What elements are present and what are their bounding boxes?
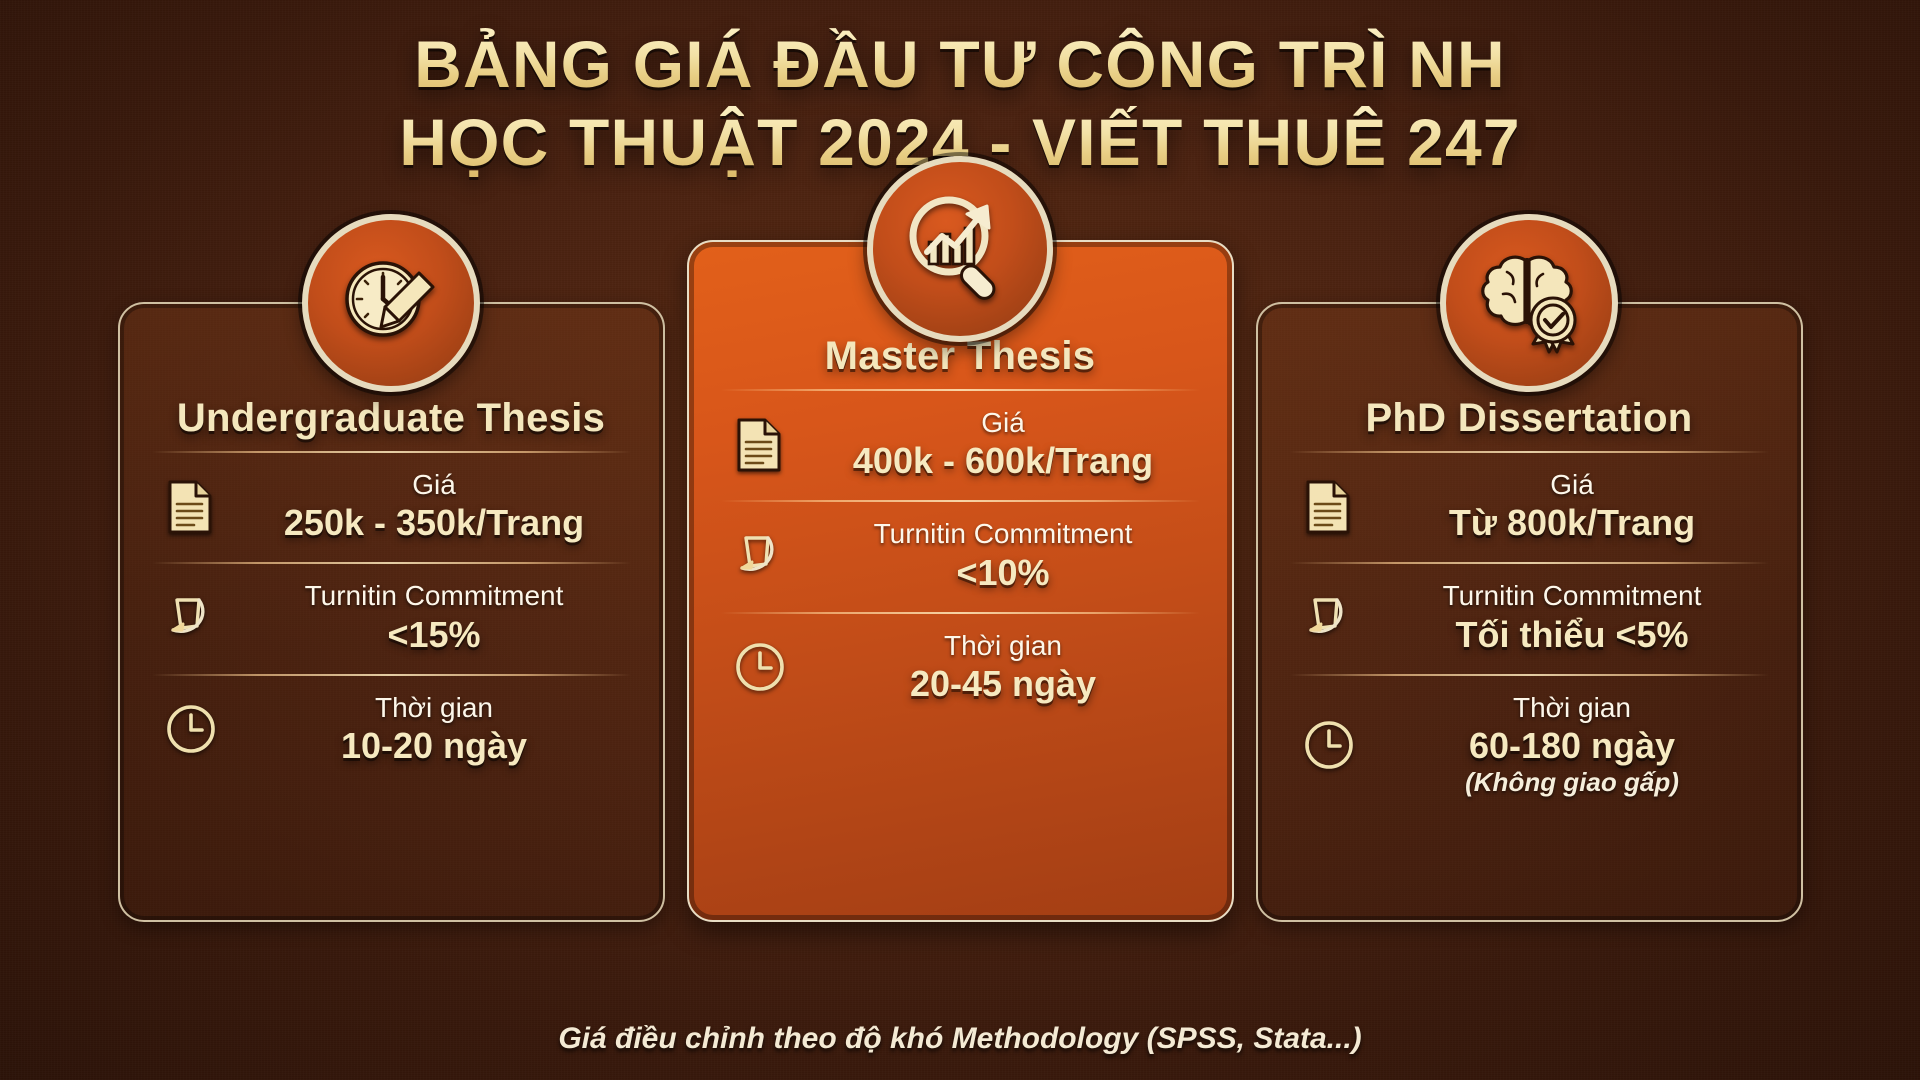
row-price: Giá 250k - 350k/Trang (146, 463, 637, 552)
plagiarism-check-icon (160, 587, 222, 649)
row-label: Turnitin Commitment (240, 580, 629, 612)
pricing-card-master[interactable]: Master Thesis Giá 400k - 600k/Trang (687, 240, 1234, 922)
row-label: Thời gian (1378, 692, 1767, 724)
title-line-1: BẢNG GIÁ ĐẦU TƯ CÔNG TRÌ NH (0, 26, 1920, 104)
row-value: <15% (240, 613, 629, 656)
row-time: Thời gian 20-45 ngày (715, 624, 1206, 713)
card-title: Undergraduate Thesis (146, 396, 637, 441)
row-value: 20-45 ngày (809, 662, 1198, 705)
row-time: Thời gian 60-180 ngày (Không giao gấp) (1284, 686, 1775, 807)
divider (152, 562, 631, 564)
row-turnitin: Turnitin Commitment <15% (146, 574, 637, 663)
plagiarism-check-icon (1298, 587, 1360, 649)
divider (1290, 451, 1769, 453)
divider (1290, 674, 1769, 676)
clock-pencil-icon (302, 214, 480, 392)
divider (721, 500, 1200, 502)
row-label: Turnitin Commitment (1378, 580, 1767, 612)
row-label: Thời gian (240, 692, 629, 724)
row-turnitin: Turnitin Commitment Tối thiểu <5% (1284, 574, 1775, 663)
pricing-cards: Undergraduate Thesis Giá 250k - 350k/Tra… (0, 240, 1920, 980)
clock-icon (160, 698, 222, 760)
divider (721, 612, 1200, 614)
row-value: 60-180 ngày (1378, 724, 1767, 767)
row-turnitin: Turnitin Commitment <10% (715, 512, 1206, 601)
document-icon (1298, 476, 1360, 538)
row-value: Tối thiểu <5% (1378, 613, 1767, 656)
row-value: <10% (809, 551, 1198, 594)
document-icon (729, 414, 791, 476)
row-value: Từ 800k/Trang (1378, 501, 1767, 544)
row-label: Giá (240, 469, 629, 501)
row-value: 10-20 ngày (240, 724, 629, 767)
row-price: Giá 400k - 600k/Trang (715, 401, 1206, 490)
row-label: Turnitin Commitment (809, 518, 1198, 550)
clock-icon (729, 636, 791, 698)
divider (152, 451, 631, 453)
pricing-card-phd[interactable]: PhD Dissertation Giá Từ 800k/Trang (1256, 302, 1803, 922)
plagiarism-check-icon (729, 525, 791, 587)
row-value: 250k - 350k/Trang (240, 501, 629, 544)
clock-icon (1298, 714, 1360, 776)
divider (721, 389, 1200, 391)
row-time: Thời gian 10-20 ngày (146, 686, 637, 775)
row-label: Thời gian (809, 630, 1198, 662)
row-note: (Không giao gấp) (1378, 767, 1767, 798)
document-icon (160, 476, 222, 538)
row-price: Giá Từ 800k/Trang (1284, 463, 1775, 552)
divider (152, 674, 631, 676)
chart-magnifier-icon (867, 156, 1053, 342)
row-label: Giá (809, 407, 1198, 439)
row-label: Giá (1378, 469, 1767, 501)
footer-note: Giá điều chỉnh theo độ khó Methodology (… (0, 1022, 1920, 1056)
brain-award-icon (1440, 214, 1618, 392)
card-title: PhD Dissertation (1284, 396, 1775, 441)
divider (1290, 562, 1769, 564)
pricing-card-undergraduate[interactable]: Undergraduate Thesis Giá 250k - 350k/Tra… (118, 302, 665, 922)
row-value: 400k - 600k/Trang (809, 439, 1198, 482)
